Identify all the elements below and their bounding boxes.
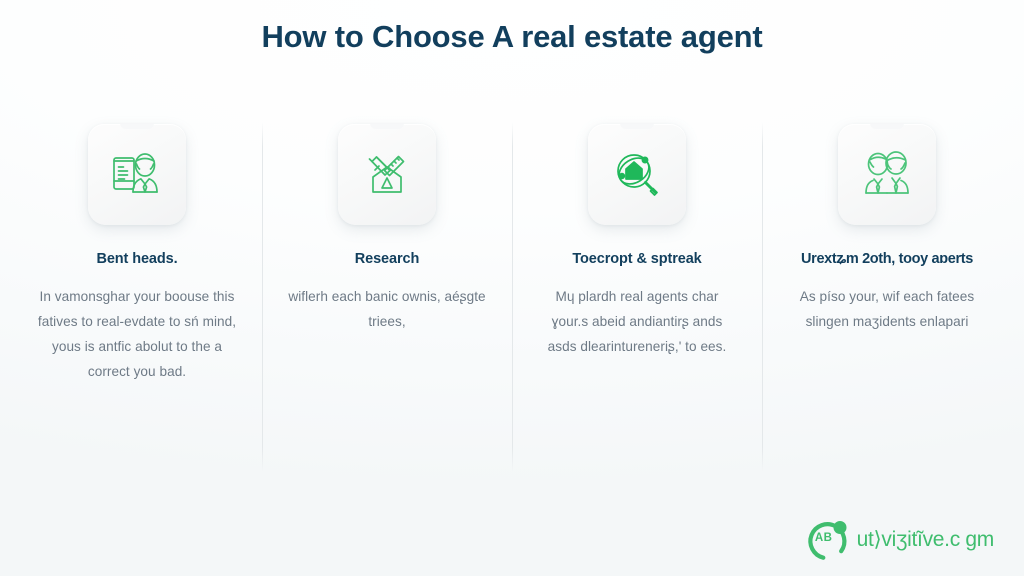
column-body-2: wiflerh each banic ownis, aéʂgte triees,	[280, 284, 494, 334]
column-divider-2	[512, 122, 513, 472]
agent-person-document-icon	[109, 148, 165, 202]
logo-arc-icon: AB	[804, 519, 850, 561]
logo-initials: AB	[804, 532, 844, 544]
column-body-1: In vamonsghar your boouse this fatives t…	[30, 284, 244, 384]
column-4: Urextʑm 2oth, tooy aɒerts As píso your, …	[762, 118, 1012, 478]
tile-notch	[120, 123, 154, 129]
column-heading-4: Urextʑm 2oth, tooy aɒerts	[801, 249, 973, 269]
two-people-partners-icon	[859, 149, 915, 201]
columns-container: Bent heads. In vamonsghar your boouse th…	[12, 118, 1012, 478]
column-2: Research wiflerh each banic ownis, aéʂgt…	[262, 118, 512, 478]
icon-tile-4	[838, 124, 936, 225]
logo-wordmark: ut⟩viʒitĩve.c gm	[857, 528, 994, 552]
icon-tile-3	[588, 124, 686, 225]
column-3: Toecropt & sptreak Mɥ plardh real agents…	[512, 118, 762, 478]
column-divider-3	[762, 122, 763, 472]
infographic-canvas: How to Choose A real estate agent	[0, 0, 1024, 576]
icon-tile-1	[88, 124, 186, 225]
house-tools-ruler-pencil-icon	[360, 148, 414, 202]
column-body-4: As píso your, wif each fatees slingen ma…	[784, 284, 990, 334]
icon-tile-2	[338, 124, 436, 225]
column-heading-1: Bent heads.	[96, 249, 177, 269]
tile-notch	[620, 123, 654, 129]
column-body-3: Mɥ plardh real agents char ɣour.s abeid …	[537, 284, 737, 359]
tile-notch	[870, 123, 904, 129]
footer-logo: AB ut⟩viʒitĩve.c gm	[804, 518, 994, 562]
magnifying-glass-house-icon	[610, 148, 664, 202]
column-heading-2: Research	[355, 249, 420, 269]
tile-notch	[370, 123, 404, 129]
column-heading-3: Toecropt & sptreak	[572, 249, 701, 269]
column-divider-1	[262, 122, 263, 472]
page-title: How to Choose A real estate agent	[0, 16, 1024, 58]
column-1: Bent heads. In vamonsghar your boouse th…	[12, 118, 262, 478]
